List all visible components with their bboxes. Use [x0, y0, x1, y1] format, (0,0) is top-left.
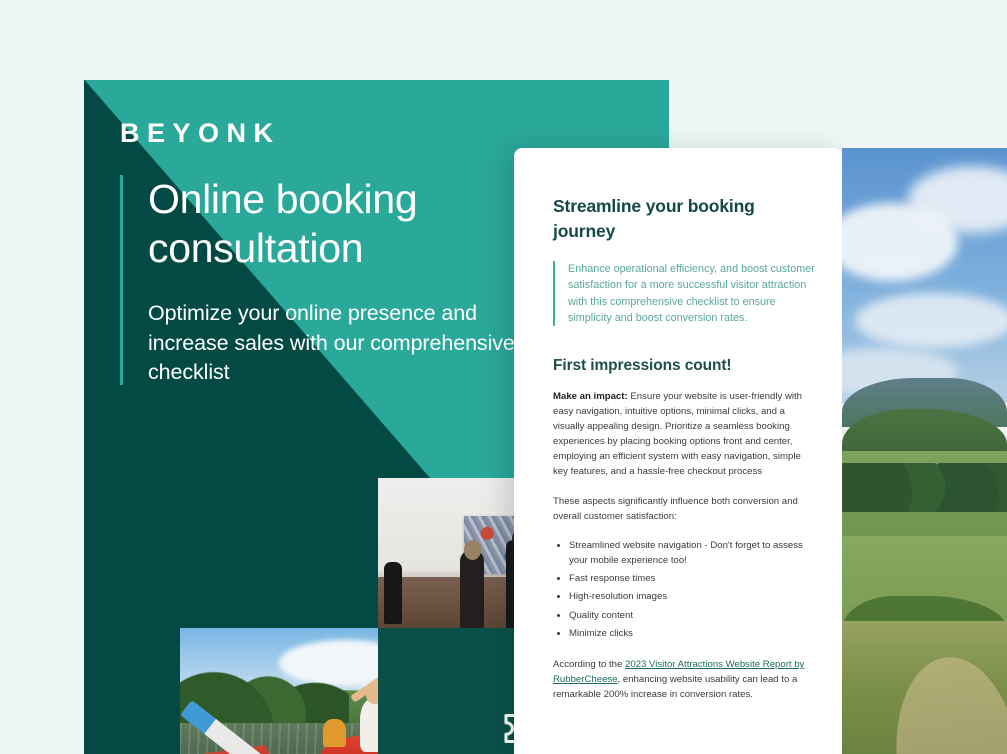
card-source-paragraph: According to the 2023 Visitor Attraction…: [553, 658, 817, 703]
card-paragraph-aspects: These aspects significantly influence bo…: [553, 495, 817, 525]
list-item: High-resolution images: [569, 589, 817, 604]
hero-text-block: Online booking consultation Optimize you…: [120, 175, 540, 388]
card-bullet-list: Streamlined website navigation - Don't f…: [553, 538, 817, 641]
gallery-visitor: [460, 550, 484, 628]
countryside-landscape-photo: [842, 148, 1007, 754]
canoe-passenger: [323, 719, 346, 748]
card-section-heading: First impressions count!: [553, 357, 817, 375]
list-item: Fast response times: [569, 571, 817, 586]
page-canvas: BEYONK Online booking consultation Optim…: [0, 0, 1007, 754]
source-prefix-text: According to the: [553, 659, 625, 670]
gallery-visitor: [384, 562, 402, 624]
beyonk-logo: BEYONK: [120, 120, 281, 147]
card-paragraph-impact: Make an impact: Ensure your website is u…: [553, 390, 817, 480]
card-quote-callout: Enhance operational efficiency, and boos…: [553, 261, 817, 327]
accent-rule-decoration: [120, 175, 123, 385]
list-item: Streamlined website navigation - Don't f…: [569, 538, 817, 568]
gallery-visitor-head: [464, 540, 481, 560]
tree-line: [842, 463, 1007, 511]
page-title: Online booking consultation: [148, 175, 540, 273]
list-item: Minimize clicks: [569, 626, 817, 641]
document-card-content: Streamline your booking journey Enhance …: [514, 148, 842, 703]
document-card: Streamline your booking journey Enhance …: [514, 148, 842, 754]
card-heading: Streamline your booking journey: [553, 194, 817, 244]
list-item: Quality content: [569, 608, 817, 623]
page-subtitle: Optimize your online presence and increa…: [148, 299, 540, 387]
cloud: [855, 293, 1007, 348]
paragraph-body-text: Ensure your website is user-friendly wit…: [553, 391, 802, 477]
paragraph-lead-label: Make an impact:: [553, 391, 628, 402]
